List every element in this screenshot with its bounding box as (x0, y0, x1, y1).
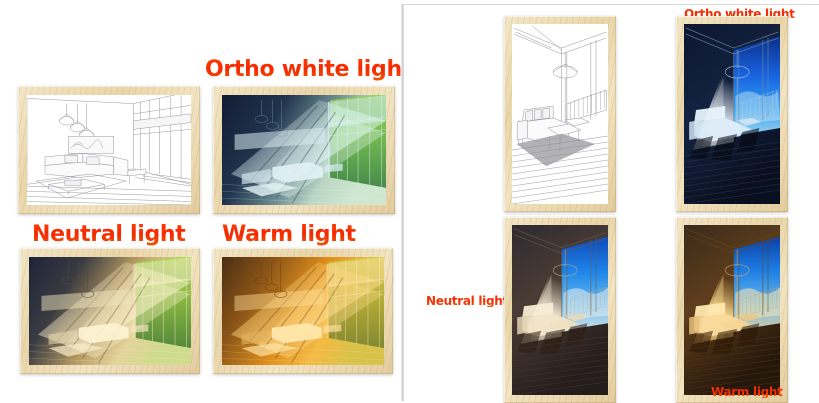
artwork-frame-patio-ortho-white[interactable] (676, 16, 788, 212)
artwork-frame-living-ortho-white[interactable] (213, 86, 395, 214)
artwork-living-room-ortho-white (222, 95, 386, 205)
artwork-patio-neutral (512, 225, 608, 395)
frame-mat (512, 24, 608, 204)
artwork-living-room-neutral (29, 257, 191, 365)
artwork-living-room-sketch (27, 95, 191, 205)
living-room-render-cool (222, 95, 386, 205)
artwork-frame-patio-sketch[interactable] (504, 16, 616, 212)
label-neutral-light-right: Neutral light (426, 295, 508, 307)
frame-mat (684, 24, 780, 204)
label-neutral-light-left: Neutral light (32, 224, 186, 246)
label-warm-light-left: Warm light (222, 224, 356, 246)
patio-render-neutral (512, 225, 608, 395)
label-warm-light-right: Warm light (711, 386, 783, 398)
frame-mat (222, 257, 384, 365)
artwork-frame-living-sketch[interactable] (18, 86, 200, 214)
label-ortho-white-light-left: Ortho white light (205, 59, 412, 81)
artwork-patio-sketch (512, 24, 608, 204)
patio-render-cool (684, 24, 780, 204)
patio-line-art (512, 24, 608, 204)
frame-mat (684, 225, 780, 395)
frame-mat (27, 95, 191, 205)
artwork-patio-ortho-white (684, 24, 780, 204)
frame-mat (222, 95, 386, 205)
artwork-patio-warm (684, 225, 780, 395)
living-room-render-warm (222, 257, 384, 365)
frame-mat (512, 225, 608, 395)
patio-artwork-grid: Ortho white light (403, 4, 819, 401)
artwork-frame-living-neutral[interactable] (20, 248, 200, 374)
living-room-render-neutral (29, 257, 191, 365)
artwork-living-room-warm (222, 257, 384, 365)
artwork-frame-living-warm[interactable] (213, 248, 393, 374)
frame-mat (29, 257, 191, 365)
artwork-frame-patio-warm[interactable] (676, 217, 788, 403)
living-room-line-art (27, 95, 191, 205)
patio-render-warm (684, 225, 780, 395)
artwork-frame-patio-neutral[interactable] (504, 217, 616, 403)
